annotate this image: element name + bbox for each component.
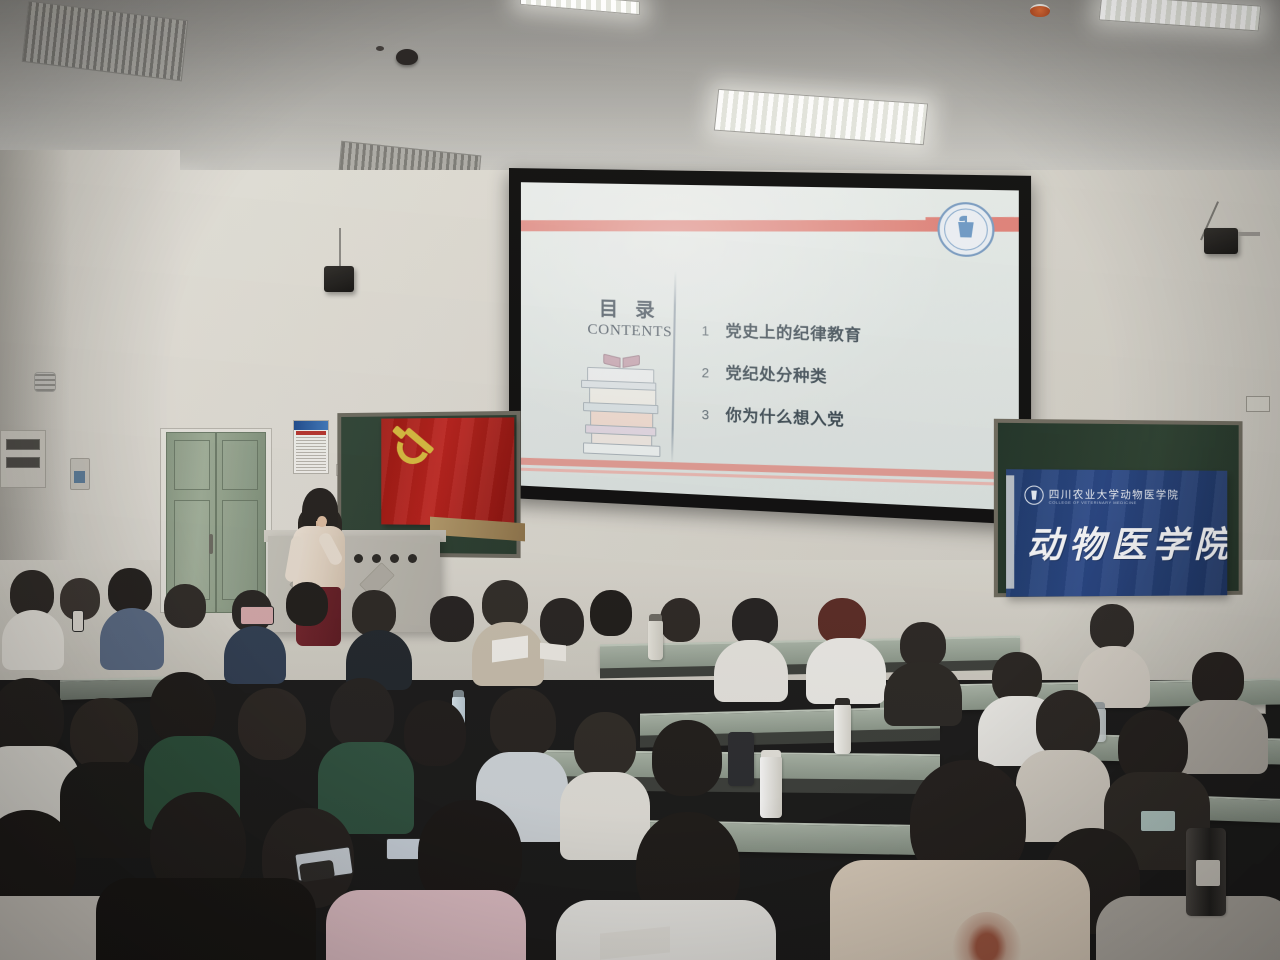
paper-handout [540, 643, 566, 662]
audience-body [884, 662, 962, 726]
wall-speaker-left [324, 266, 354, 292]
water-bottle[interactable] [648, 620, 663, 660]
item-label: 党纪处分种类 [726, 361, 828, 387]
university-seal-icon [937, 202, 994, 258]
audience-head [590, 590, 632, 636]
audience-head [164, 584, 206, 628]
audience-head [286, 582, 328, 626]
list-item: 3 你为什么想入党 [702, 402, 862, 431]
panel-slot [6, 457, 40, 468]
wall-speaker-right [1204, 228, 1238, 254]
tumbler-label [1196, 860, 1220, 886]
list-item: 1 党史上的纪律教育 [702, 318, 862, 346]
audience-body [806, 638, 886, 704]
audience-body [100, 608, 164, 670]
open-book-icon [603, 353, 640, 366]
dome-camera-mount [376, 46, 384, 51]
bottle-cap [453, 690, 464, 697]
audience-body [714, 640, 788, 702]
slide-contents-list: 1 党史上的纪律教育 2 党纪处分种类 3 你为什么想入党 [702, 318, 862, 451]
cpc-party-flag [381, 417, 514, 525]
audience-body [560, 772, 650, 860]
audience-head [574, 712, 636, 778]
poster-body-lines [294, 436, 328, 474]
poster-title-bar [296, 431, 326, 435]
list-item: 2 党纪处分种类 [702, 360, 862, 389]
audience-head [482, 580, 528, 628]
item-label: 你为什么想入党 [726, 403, 845, 431]
item-number: 3 [702, 407, 726, 423]
audience-head [404, 700, 466, 766]
audience-head [1036, 690, 1100, 758]
book [583, 442, 660, 457]
audience-body [326, 890, 526, 960]
slide-heading-en: CONTENTS [579, 321, 681, 342]
audience-body [224, 626, 286, 684]
door-panel [174, 440, 210, 490]
electrical-panel[interactable] [0, 430, 46, 488]
slide-heading: 目 录 CONTENTS [579, 299, 681, 342]
audience-head [430, 596, 474, 642]
slide-heading-cn: 目 录 [579, 299, 681, 321]
thermos-bottle[interactable] [834, 704, 851, 754]
slide-surface: 目 录 CONTENTS 1 党史上的纪律 [521, 182, 1019, 510]
poster-header [294, 421, 328, 430]
thermos-tumbler[interactable] [728, 732, 754, 786]
book-page-left [603, 354, 620, 368]
audience-area [0, 560, 1280, 960]
audience-head [490, 688, 556, 758]
smoke-detector-icon [1030, 4, 1050, 17]
audience-head [0, 678, 64, 756]
book-page-right [623, 355, 640, 368]
speaker-bracket [1238, 232, 1260, 236]
projection-screen: 目 录 CONTENTS 1 党史上的纪律 [509, 168, 1031, 525]
bottle-cap [761, 750, 781, 757]
audience-body [96, 878, 316, 960]
audience-head [150, 672, 216, 744]
audience-head [238, 688, 306, 760]
audience-head [70, 698, 138, 770]
smartphone[interactable] [72, 610, 84, 632]
reader-screen [74, 471, 85, 483]
card-reader[interactable] [70, 458, 90, 490]
college-logo-icon [1024, 486, 1043, 505]
smartphone[interactable] [1140, 810, 1176, 832]
dome-camera-icon [396, 49, 418, 65]
stack-of-books-icon [581, 353, 667, 462]
audience-head [652, 720, 722, 796]
item-label: 党史上的纪律教育 [726, 319, 862, 346]
slide-divider-rule [671, 270, 676, 463]
smartphone[interactable] [240, 606, 274, 625]
audience-head [1192, 652, 1244, 706]
wall-notice-poster [293, 420, 329, 474]
panel-slot [6, 439, 40, 450]
door-panel [222, 440, 258, 490]
audience-body [1176, 700, 1268, 774]
wall-vent-icon [34, 372, 56, 392]
wall-outlet[interactable] [1246, 396, 1270, 412]
audience-body [2, 610, 64, 670]
audience-head [540, 598, 584, 646]
audience-head [352, 590, 396, 636]
audience-head [732, 598, 778, 646]
door-handle[interactable] [209, 534, 213, 554]
thermos-bottle[interactable] [760, 756, 782, 818]
bottle-cap [835, 698, 850, 705]
audience-head [660, 598, 700, 642]
item-number: 1 [702, 323, 726, 339]
audience-head [1090, 604, 1134, 650]
item-number: 2 [702, 365, 726, 381]
presenter-hand [317, 516, 327, 527]
banner-org-line-en: COLLEGE OF VETERINARY MEDICINE [1049, 500, 1137, 505]
bottle-cap [649, 614, 662, 621]
audience-head [330, 678, 394, 748]
lecture-hall-photo: 目 录 CONTENTS 1 党史上的纪律 [0, 0, 1280, 960]
audience-body [60, 762, 156, 858]
